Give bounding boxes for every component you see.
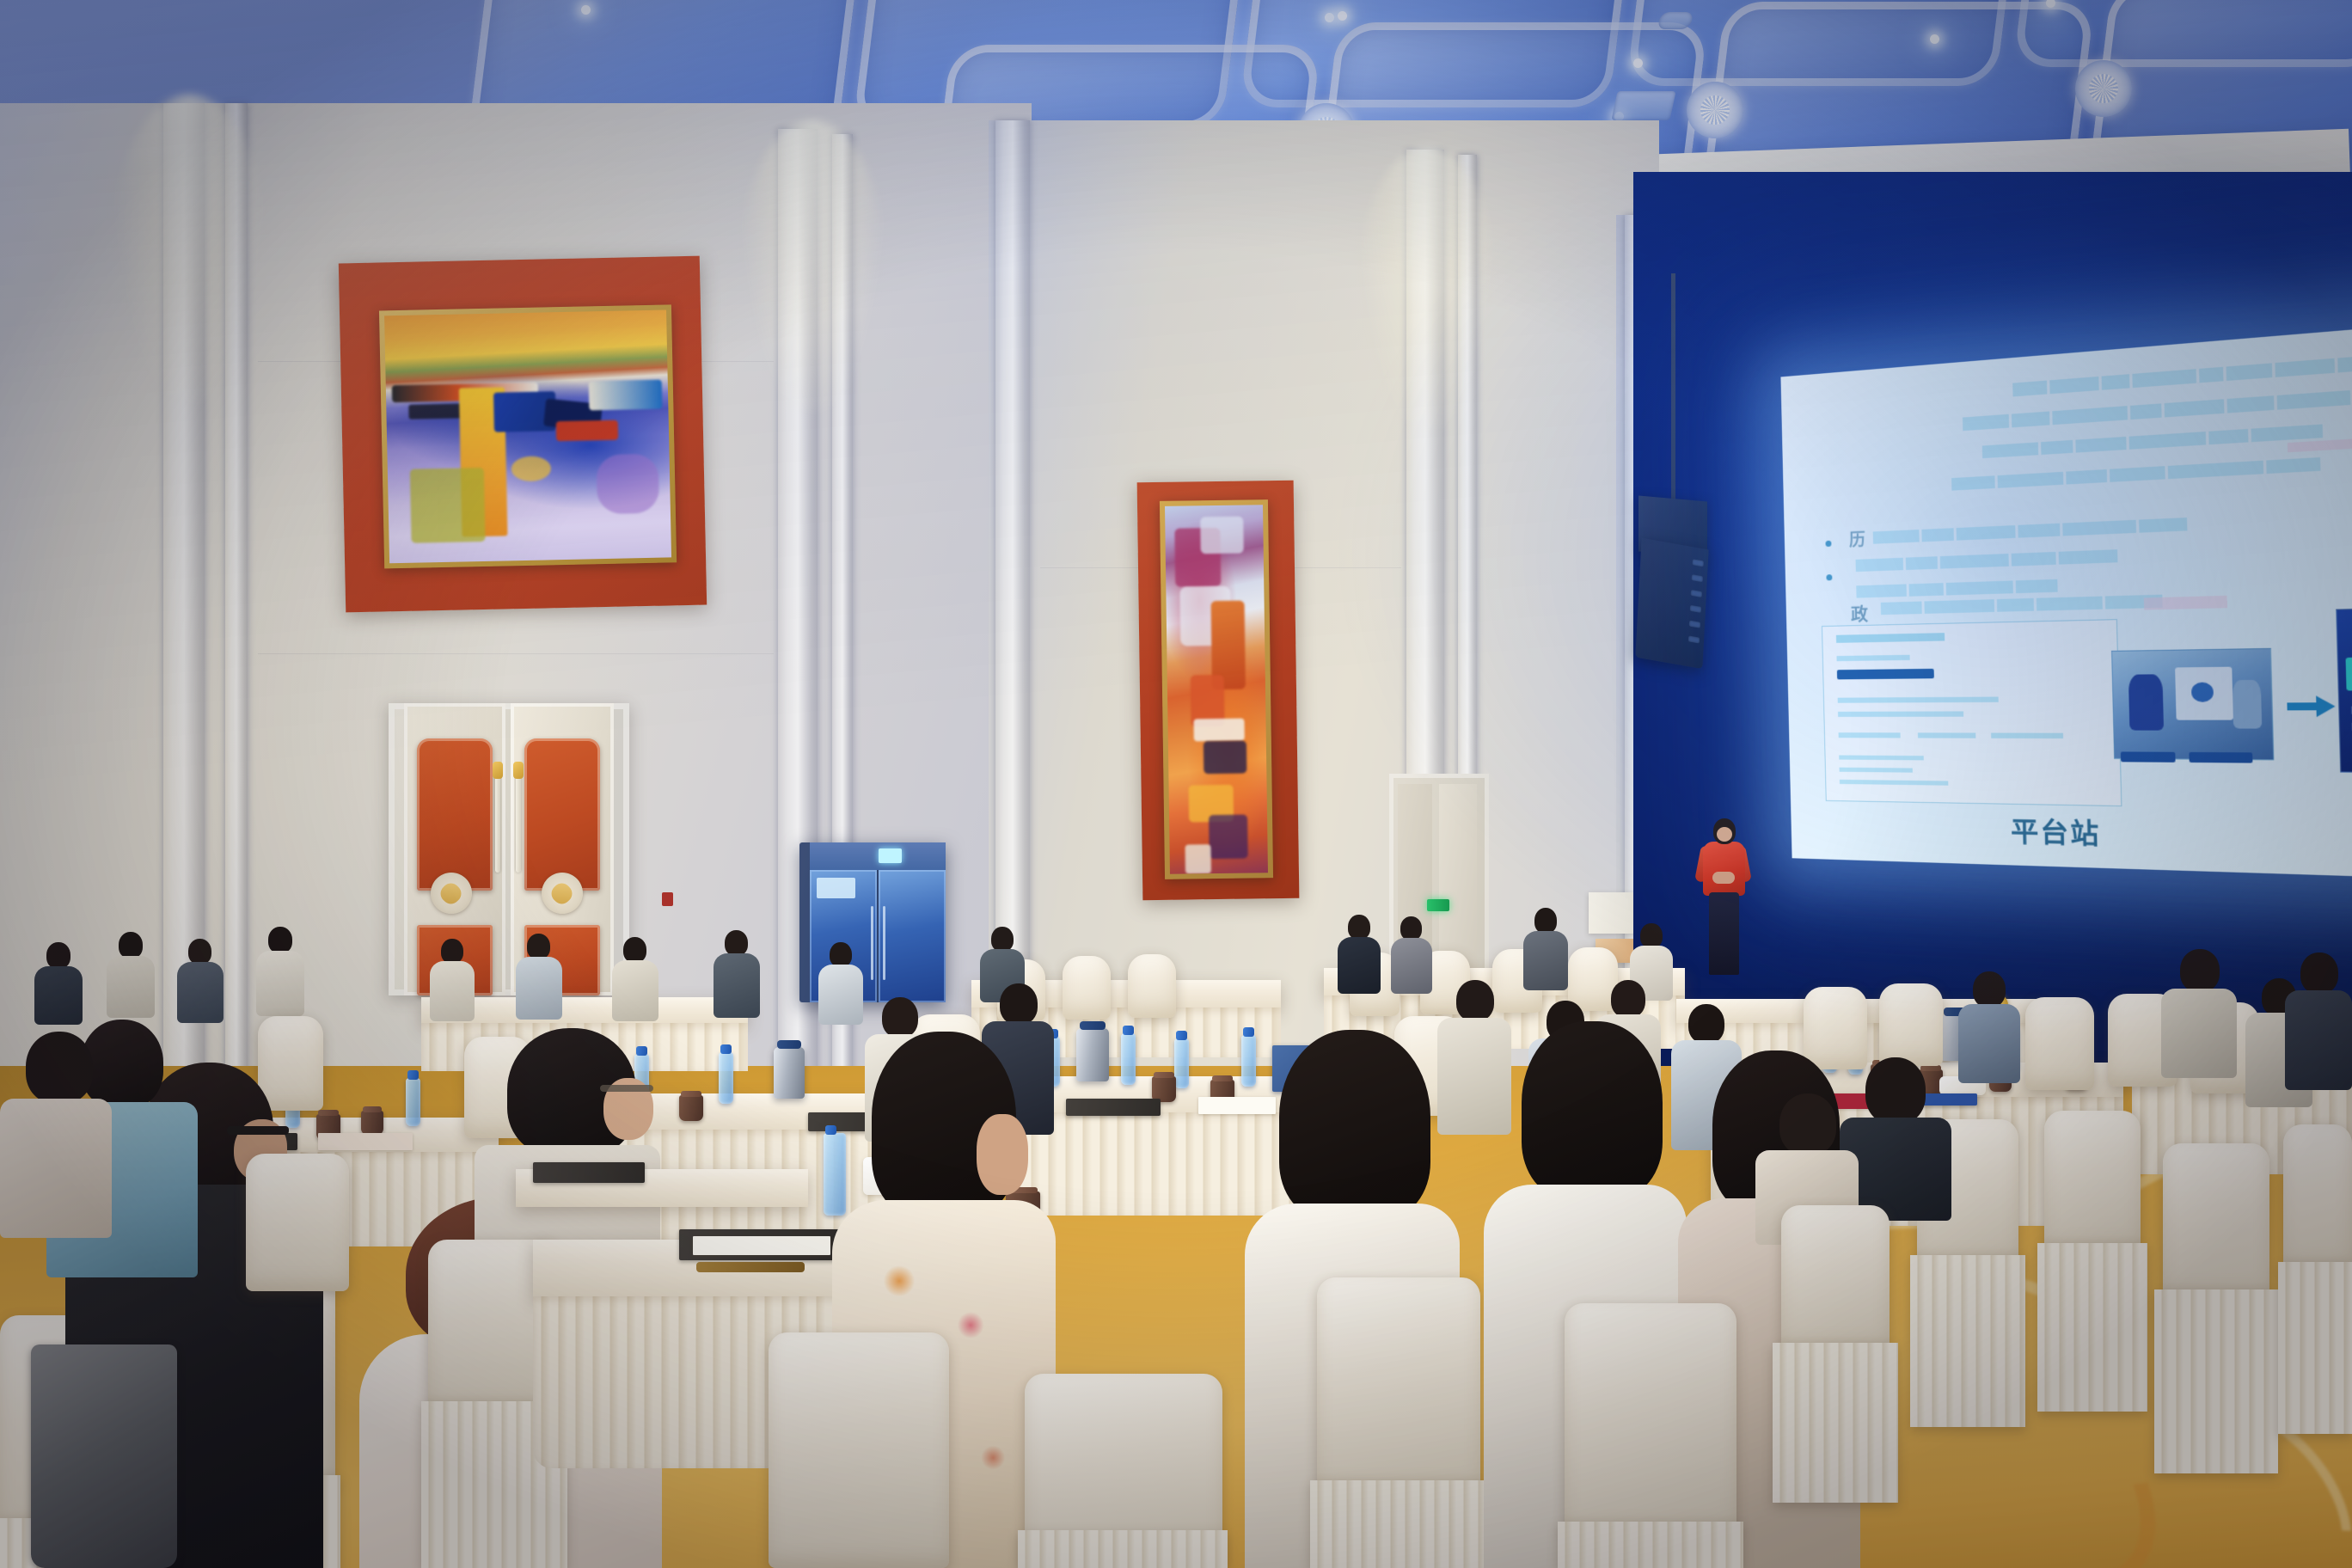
backpack [31, 1344, 177, 1568]
slide-mobile-screenshot [2336, 606, 2352, 774]
pen [696, 1262, 805, 1272]
brushstroke [1185, 844, 1211, 874]
banquet-chair[interactable] [246, 1154, 349, 1291]
presenter-skirt [1709, 892, 1739, 975]
slide-card-tag [1837, 669, 1933, 680]
attendee-head [1522, 1021, 1663, 1198]
slide-pixelated-text [1856, 577, 2150, 598]
attendee [1338, 915, 1381, 994]
water-bottle [1121, 1033, 1136, 1085]
door-handle[interactable] [516, 774, 521, 873]
door-handle[interactable] [495, 774, 500, 873]
slide-text-fragment-2: 政 [1851, 600, 1871, 626]
abstract-vertical-painting [1165, 505, 1268, 874]
slide-pixelated-text [2144, 596, 2227, 610]
attendee [516, 934, 562, 1020]
fire-alarm-icon [662, 892, 673, 906]
artwork-mat-vertical [1137, 481, 1300, 900]
brushstroke [555, 420, 618, 441]
wall-wash-light [739, 120, 885, 413]
banquet-chair[interactable] [2283, 1124, 2352, 1271]
attendee-head [1400, 916, 1422, 940]
attendee [256, 927, 304, 1016]
chair-skirt [2037, 1243, 2147, 1412]
attendee [2285, 952, 2352, 1090]
slide-pixelated-text [1856, 546, 2191, 571]
door-panel [417, 738, 492, 891]
brushstroke [410, 468, 485, 543]
banquet-chair[interactable] [2163, 1143, 2269, 1298]
brushstroke [1209, 814, 1248, 859]
exit-sign [1427, 899, 1449, 911]
slide-photo-button [2121, 751, 2176, 762]
fridge-control-display [879, 848, 902, 863]
attendee [34, 942, 83, 1025]
chair-skirt [1910, 1255, 2025, 1427]
projection-screen: 历 政 [1780, 322, 2352, 879]
brushstroke [1204, 740, 1247, 774]
banquet-chair[interactable] [1128, 954, 1176, 1018]
wall-wash-light [112, 95, 266, 404]
slide-embedded-photo [2111, 648, 2274, 761]
chair-skirt [2278, 1262, 2352, 1434]
brushstroke [589, 379, 663, 410]
downlight-icon [1633, 58, 1643, 68]
attendee-head [991, 927, 1014, 952]
wall-seam [258, 653, 774, 654]
speaker-suspension-pole [1671, 273, 1675, 504]
slide-pixelated-text [1951, 451, 2352, 490]
fridge-glass-door-right[interactable] [879, 870, 946, 1002]
attendee [0, 1032, 112, 1238]
attendee [430, 939, 475, 1021]
attendee-torso [1523, 931, 1568, 990]
water-bottle [1174, 1038, 1189, 1088]
brushstroke [596, 454, 659, 515]
tea-cup [679, 1095, 703, 1121]
eyeglasses-icon [600, 1085, 653, 1092]
slide-caption: 平台站 [2010, 809, 2101, 851]
ceiling-rosette [1687, 82, 1743, 138]
attendee [1391, 916, 1432, 994]
attendee-face [977, 1114, 1028, 1195]
banquet-chair[interactable] [769, 1332, 949, 1568]
wall-wash-light [1358, 146, 1496, 430]
attendee-head [1348, 915, 1370, 940]
banquet-chair[interactable] [1879, 983, 1943, 1066]
brushstroke [1200, 516, 1244, 553]
presenter [1698, 818, 1749, 973]
downlight-icon [1930, 34, 1939, 44]
attendee [2161, 949, 2237, 1078]
downlight-icon [1338, 11, 1347, 21]
attendee-head [1640, 923, 1663, 948]
attendee [1523, 908, 1568, 990]
downlight-icon [1325, 13, 1334, 22]
door-panel [524, 738, 601, 891]
abstract-landscape-painting [384, 309, 671, 563]
slide-product-card [1822, 619, 2122, 806]
entry-doors[interactable] [389, 703, 629, 995]
thermos-carafe [774, 1047, 805, 1099]
banquet-chair[interactable] [2044, 1111, 2141, 1252]
banquet-chair[interactable] [1565, 1303, 1736, 1534]
ceiling-vent [1611, 91, 1675, 120]
chair-skirt [1018, 1530, 1228, 1568]
attendee-head [1534, 908, 1557, 934]
presenter-microphone [1712, 872, 1735, 884]
brushstroke [1193, 719, 1245, 741]
attendee-torso [1391, 938, 1432, 994]
attendee [612, 937, 658, 1021]
slide-arrow-icon [2287, 695, 2336, 717]
presenter-face [1717, 827, 1732, 842]
fridge-label-sticker [817, 878, 854, 898]
attendee [177, 939, 224, 1023]
desk-pad [533, 1162, 645, 1183]
downlight-icon [581, 5, 591, 15]
eyeglasses-icon [227, 1126, 289, 1135]
handout-paper [693, 1236, 830, 1255]
brushstroke [511, 456, 551, 481]
attendee [818, 942, 863, 1025]
tea-cup [361, 1111, 383, 1135]
banquet-chair[interactable] [1781, 1205, 1890, 1351]
thermos-carafe [1076, 1028, 1109, 1081]
banquet-chair[interactable] [2025, 997, 2094, 1090]
pa-line-array-speaker [1635, 538, 1708, 669]
artwork-frame-vertical [1160, 499, 1273, 879]
door-medallion [431, 873, 472, 914]
handout-paper [318, 1133, 413, 1150]
attendee [1958, 971, 2020, 1083]
fridge-handle[interactable] [883, 906, 885, 980]
chair-skirt [1773, 1343, 1898, 1503]
conference-hall-photo: 历 政 [0, 0, 2352, 1568]
door-medallion [542, 873, 583, 914]
desk-pad [1066, 1099, 1161, 1116]
ceiling-rosette [2075, 60, 2132, 117]
chair-skirt [1558, 1522, 1743, 1568]
slide-bullet-icon [1826, 575, 1832, 581]
water-bottle [406, 1078, 420, 1126]
artwork-frame-landscape [379, 304, 677, 568]
banquet-chair[interactable] [1063, 956, 1111, 1020]
artwork-mat-landscape [339, 256, 707, 613]
water-bottle [719, 1052, 733, 1104]
chair-skirt [2154, 1289, 2278, 1473]
slide-pixelated-text [1873, 514, 2254, 543]
presenter-jacket [1703, 842, 1745, 896]
attendee-torso [1338, 937, 1381, 994]
attendee [107, 932, 155, 1018]
slide-bullet-icon [1825, 541, 1831, 547]
banquet-chair[interactable] [1317, 1277, 1480, 1492]
slide-photo-button [2189, 752, 2252, 763]
fridge-handle[interactable] [871, 906, 873, 980]
attendee-head [1279, 1030, 1430, 1219]
attendee [714, 930, 760, 1018]
fridge-header-panel [810, 842, 946, 870]
chair-skirt [1310, 1480, 1487, 1568]
slide-pixelated-text [2012, 352, 2352, 396]
slide-text-fragment-1: 历 [1849, 527, 1868, 551]
